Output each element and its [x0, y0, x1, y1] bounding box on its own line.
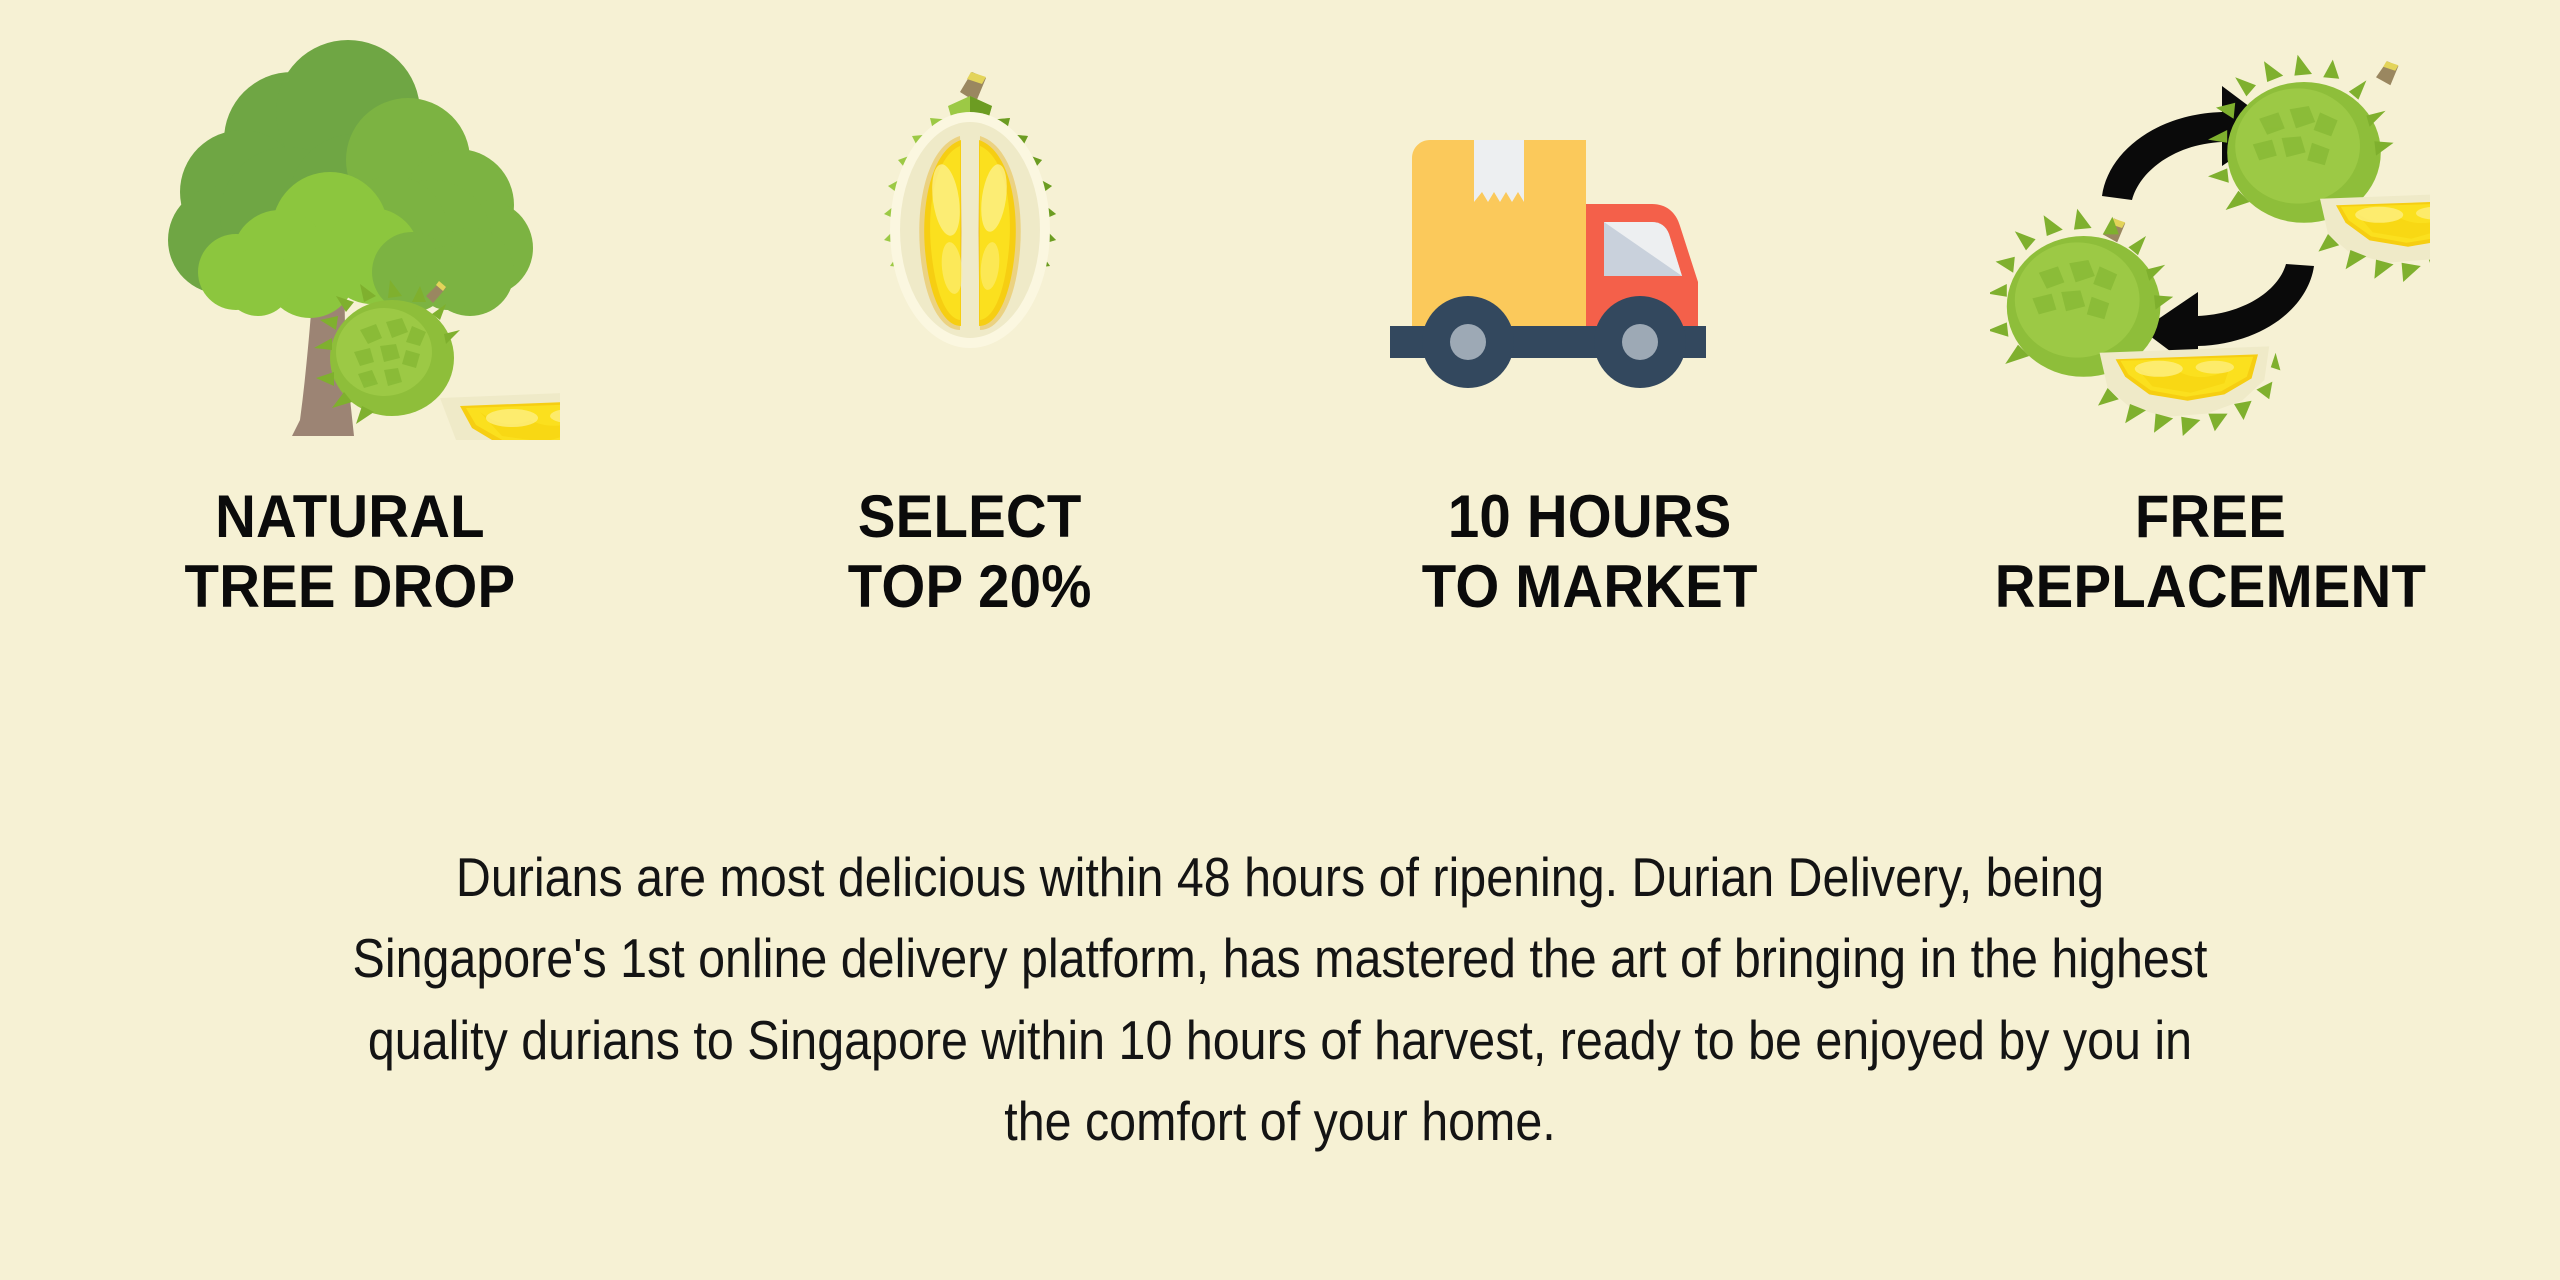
blurb-text: Durians are most delicious within 48 hou…: [330, 837, 2231, 1163]
durian-right: [2208, 55, 2430, 282]
durian-wedge: [440, 388, 560, 440]
durian-tree-icon: [40, 0, 660, 440]
durian-half-icon: [660, 0, 1280, 440]
delivery-truck-illustration: [1390, 0, 1790, 440]
feature-label-select-top-20: SELECT TOP 20%: [848, 482, 1092, 622]
feature-free-replacement: FREE REPLACEMENT: [1900, 0, 2520, 622]
durian-exchange-icon: [1900, 0, 2520, 440]
blurb-container: Durians are most delicious within 48 hou…: [0, 782, 2560, 1218]
durian-exchange-illustration: [1990, 0, 2430, 440]
feature-label-natural-tree-drop: NATURAL TREE DROP: [185, 482, 516, 622]
feature-natural-tree-drop: NATURAL TREE DROP: [40, 0, 660, 622]
delivery-truck-icon: [1280, 0, 1900, 440]
feature-label-free-replacement: FREE REPLACEMENT: [1994, 482, 2425, 622]
durian-tree-illustration: [140, 0, 560, 440]
feature-select-top-20: SELECT TOP 20%: [660, 0, 1280, 622]
durian-half-illustration: [820, 0, 1120, 440]
durian-delivery-banner: NATURAL TREE DROP: [0, 0, 2560, 1280]
feature-10-hours-to-market: 10 HOURS TO MARKET: [1280, 0, 1900, 622]
feature-label-10-hours-to-market: 10 HOURS TO MARKET: [1422, 482, 1758, 622]
feature-row: NATURAL TREE DROP: [0, 0, 2560, 760]
